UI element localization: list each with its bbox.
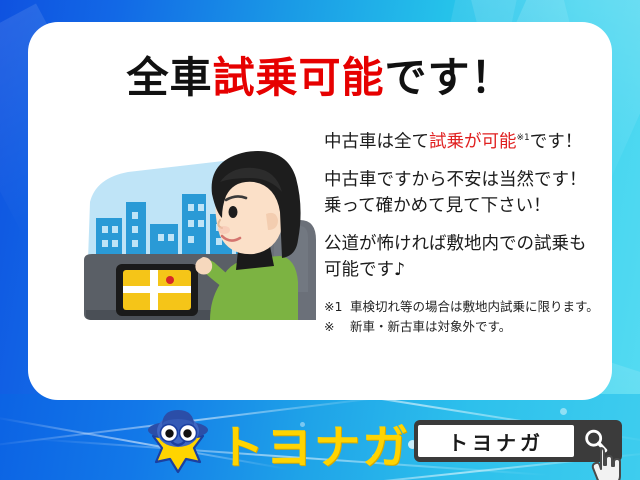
banner-image: 全車試乗可能です！ xyxy=(0,0,640,480)
network-node-dot xyxy=(560,408,567,415)
title-highlight: 試乗可能 xyxy=(212,53,384,102)
copy-line1-highlight: 試乗が可能 xyxy=(429,132,517,152)
footnote-item: ※1車検切れ等の場合は敷地内試乗に限ります。 xyxy=(324,297,634,317)
footnote-marker: ※1 xyxy=(324,297,350,317)
copy-paragraph-1: 中古車は全て試乗が可能※1です！ xyxy=(324,130,634,155)
brand-name: トヨナガ xyxy=(218,424,410,470)
body-copy: 中古車は全て試乗が可能※1です！ 中古車ですから不安は当然です！ 乗って確かめて… xyxy=(324,130,634,337)
footnote-item: ※新車・新古車は対象外です。 xyxy=(324,317,634,337)
footnote-list: ※1車検切れ等の場合は敷地内試乗に限ります。 ※新車・新古車は対象外です。 xyxy=(324,297,634,337)
copy-line: 中古車は全て試乗が可能※1です！ xyxy=(324,130,634,155)
footnote-marker: ※ xyxy=(324,317,350,337)
hand-pointer-cursor-icon xyxy=(590,446,624,480)
copy-line: 中古車ですから不安は当然です！ xyxy=(324,168,634,193)
illustration-driving xyxy=(70,142,318,332)
footnote-text: 新車・新古車は対象外です。 xyxy=(350,319,511,334)
title-suffix: です！ xyxy=(385,53,514,102)
title-prefix: 全車 xyxy=(126,53,212,102)
copy-line: 可能です♪ xyxy=(324,258,634,283)
footnote-marker: ※1 xyxy=(517,133,530,143)
content-card: 全車試乗可能です！ xyxy=(28,22,612,400)
copy-paragraph-3: 公道が怖ければ敷地内での試乗も 可能です♪ xyxy=(324,232,634,283)
copy-line1-suffix: です！ xyxy=(530,132,583,152)
footnote-text: 車検切れ等の場合は敷地内試乗に限ります。 xyxy=(350,299,599,314)
page-title: 全車試乗可能です！ xyxy=(28,44,612,105)
search-input-value: トヨナガ xyxy=(448,427,544,456)
copy-line1-prefix: 中古車は全て xyxy=(324,132,429,152)
brand-logo: トヨナガ xyxy=(140,404,410,478)
search-input[interactable]: トヨナガ xyxy=(418,425,574,457)
copy-paragraph-2: 中古車ですから不安は当然です！ 乗って確かめて見て下さい！ xyxy=(324,168,634,219)
copy-line: 公道が怖ければ敷地内での試乗も xyxy=(324,232,634,257)
copy-line: 乗って確かめて見て下さい！ xyxy=(324,194,634,219)
toyonaga-mascot-icon xyxy=(140,404,216,478)
